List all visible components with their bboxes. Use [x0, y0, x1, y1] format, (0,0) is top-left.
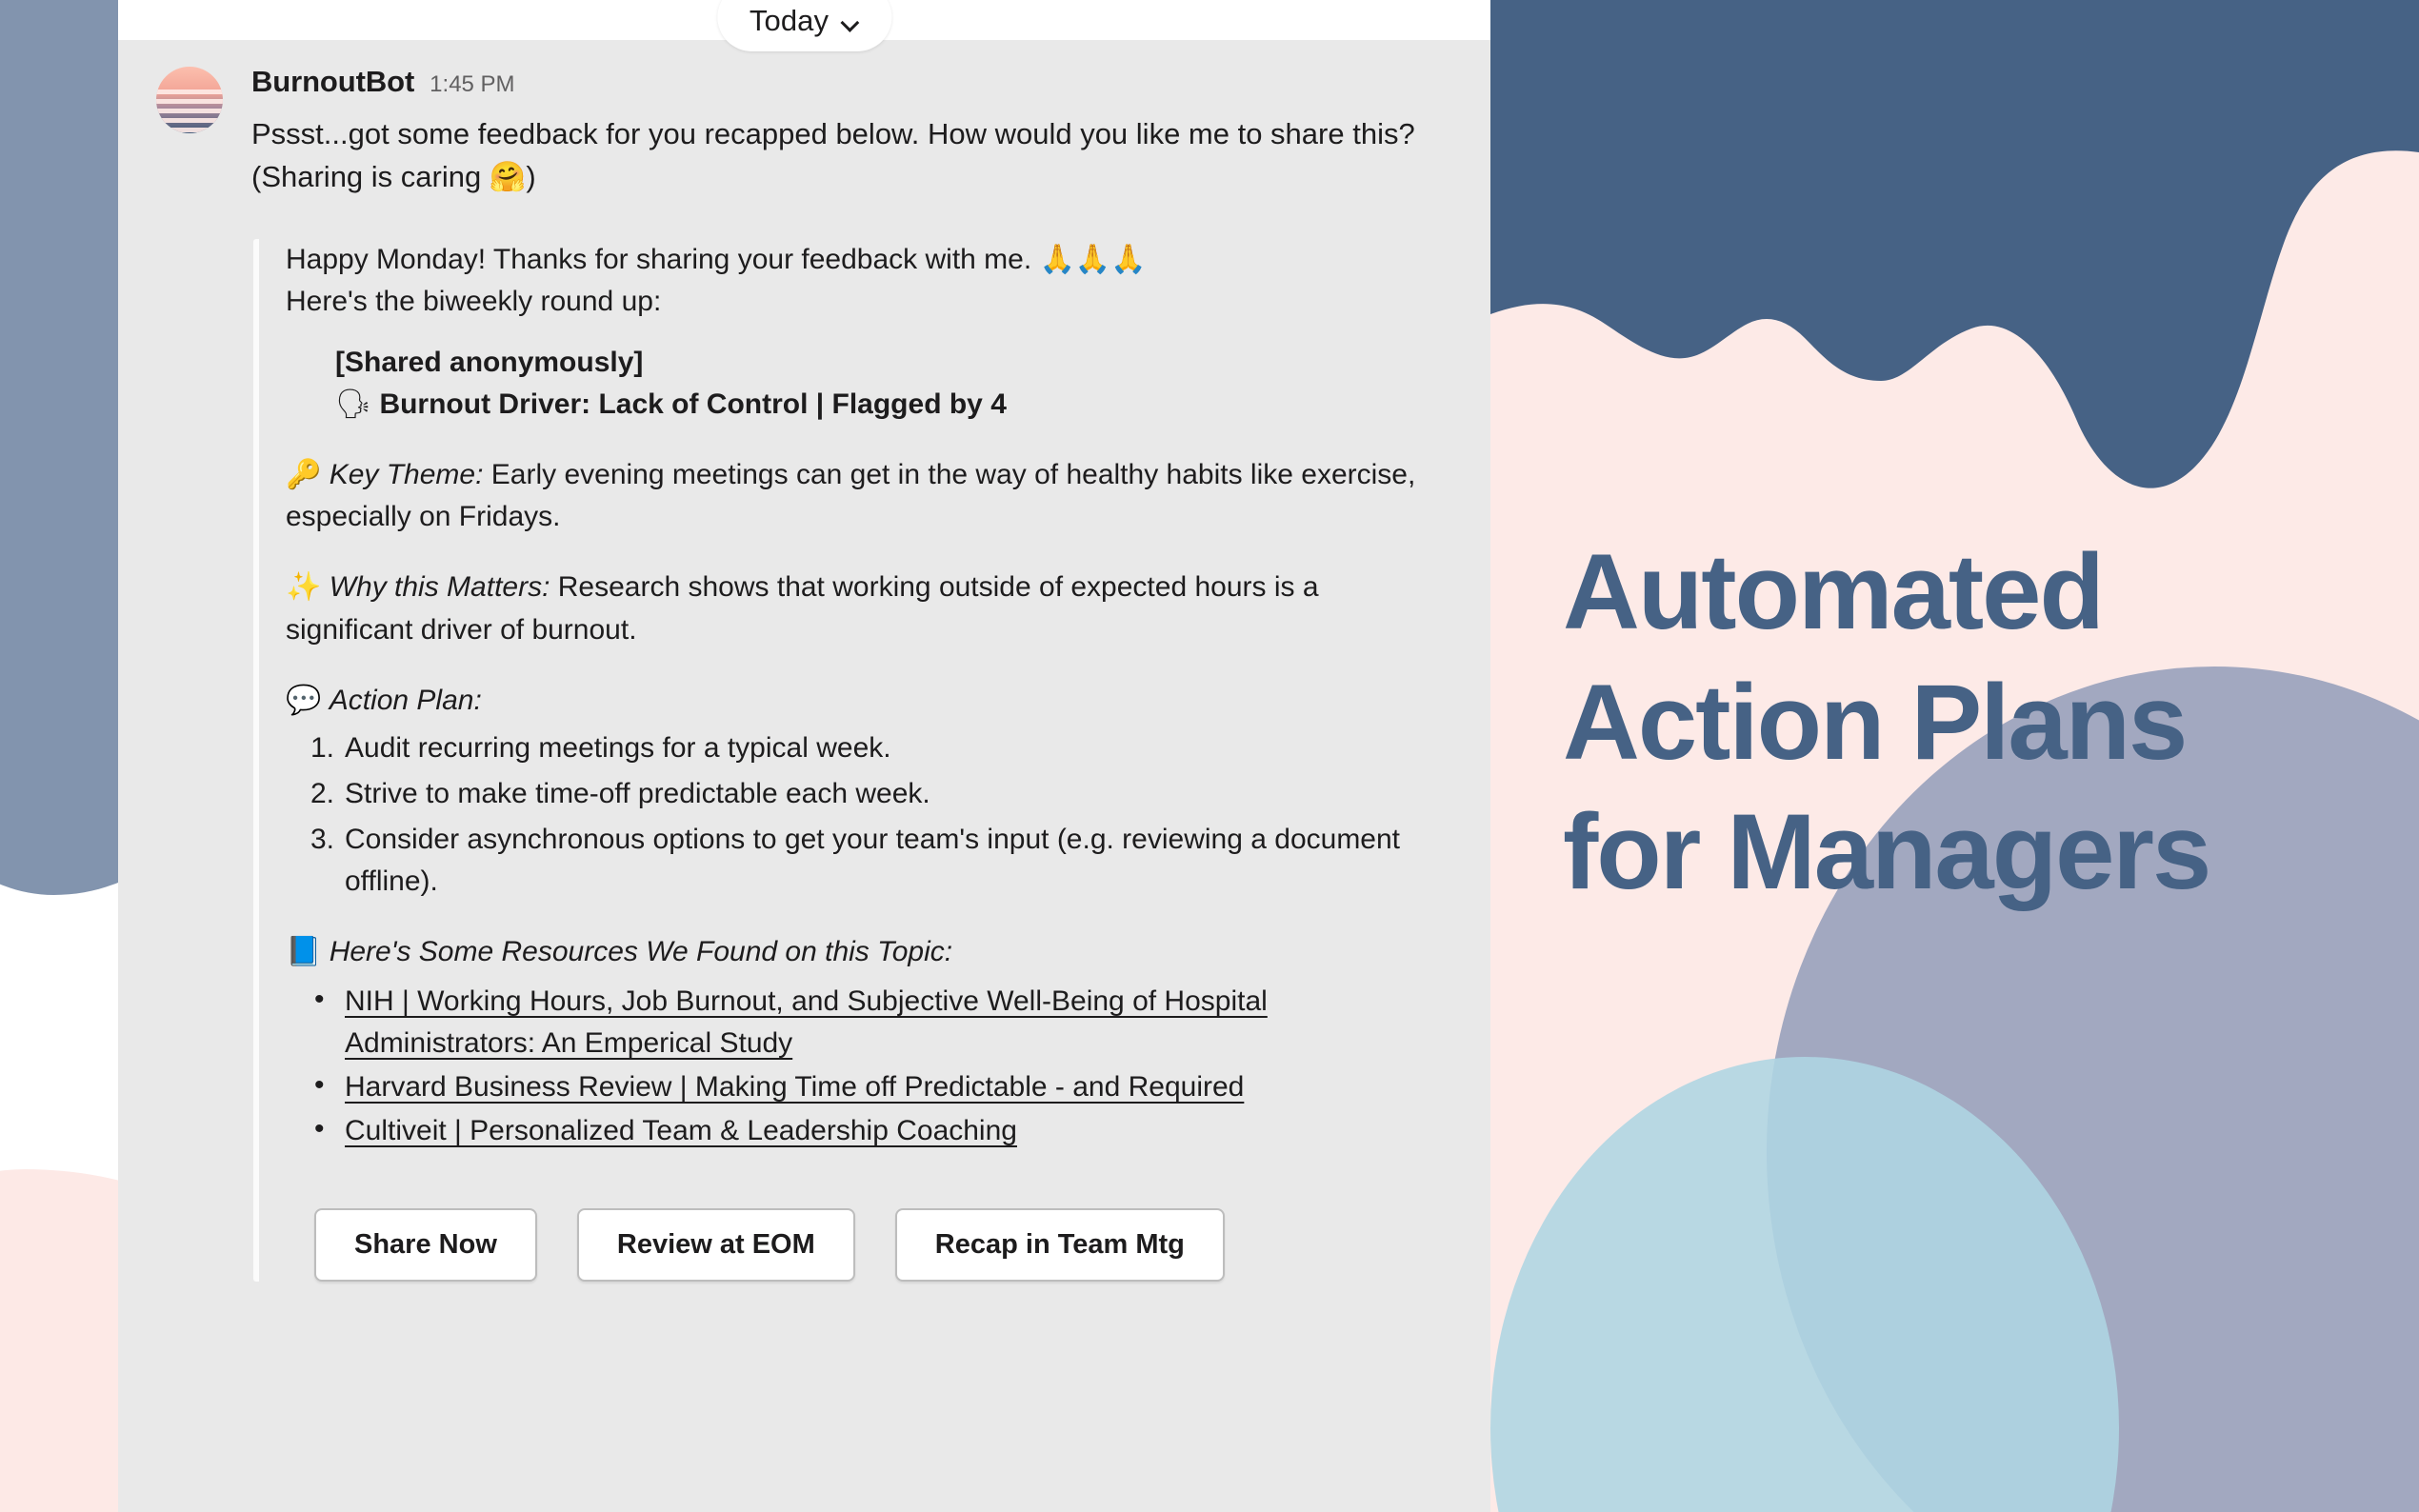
- share-now-button[interactable]: Share Now: [314, 1208, 537, 1282]
- resource-link-nih[interactable]: NIH | Working Hours, Job Burnout, and Su…: [345, 985, 1268, 1059]
- message-intro-text: Pssst...got some feedback for you recapp…: [251, 113, 1451, 199]
- message-timestamp: 1:45 PM: [430, 73, 514, 96]
- quoted-recap-block: Happy Monday! Thanks for sharing your fe…: [253, 239, 1452, 1282]
- message-container: BurnoutBot 1:45 PM Pssst...got some feed…: [118, 40, 1490, 1282]
- chevron-down-icon: [842, 16, 859, 27]
- speaking-head-icon: 🗣: [335, 388, 371, 421]
- resources-heading: 📘 Here's Some Resources We Found on this…: [286, 931, 1452, 973]
- recap-in-team-mtg-button[interactable]: Recap in Team Mtg: [895, 1208, 1225, 1282]
- list-item: 1. Audit recurring meetings for a typica…: [286, 727, 1452, 769]
- quote-subtitle: Here's the biweekly round up:: [286, 281, 1452, 323]
- avatar[interactable]: [156, 67, 223, 133]
- why-this-matters-label: Why this Matters:: [330, 571, 550, 603]
- burnout-driver-text: Burnout Driver: Lack of Control | Flagge…: [379, 388, 1006, 420]
- message-username[interactable]: BurnoutBot: [251, 67, 414, 96]
- hero-title-line-2: Action Plans: [1563, 658, 2419, 788]
- hero-title-line-3: for Managers: [1563, 787, 2419, 918]
- key-theme-line: 🔑 Key Theme: Early evening meetings can …: [286, 454, 1452, 538]
- list-item: Harvard Business Review | Making Time of…: [286, 1066, 1452, 1108]
- burnout-driver-line: 🗣 Burnout Driver: Lack of Control | Flag…: [335, 384, 1452, 426]
- left-pink-blob: [0, 1169, 118, 1512]
- resource-link-hbr[interactable]: Harvard Business Review | Making Time of…: [345, 1071, 1244, 1103]
- list-item-text: Consider asynchronous options to get you…: [345, 824, 1400, 897]
- hero-title: Automated Action Plans for Managers: [1490, 0, 2419, 1512]
- action-plan-list: 1. Audit recurring meetings for a typica…: [286, 727, 1452, 903]
- list-item-number: 2.: [310, 773, 334, 815]
- resources-list: NIH | Working Hours, Job Burnout, and Su…: [286, 981, 1452, 1152]
- resources-label: Here's Some Resources We Found on this T…: [330, 936, 952, 967]
- hero-title-line-1: Automated: [1563, 527, 2419, 658]
- date-divider-today[interactable]: Today: [717, 0, 891, 51]
- action-plan-heading: 💬 Action Plan:: [286, 680, 1452, 722]
- list-item-text: Strive to make time-off predictable each…: [345, 778, 930, 809]
- screenshot-root: Today BurnoutBot 1:45 PM Pssst...got som…: [0, 0, 2419, 1512]
- list-item: 3. Consider asynchronous options to get …: [286, 819, 1452, 903]
- anon-tag: [Shared anonymously]: [335, 342, 1452, 384]
- message-header: BurnoutBot 1:45 PM: [251, 61, 1452, 96]
- date-divider-label: Today: [750, 4, 829, 38]
- right-hero-panel: Automated Action Plans for Managers: [1490, 0, 2419, 1512]
- list-item: 2. Strive to make time-off predictable e…: [286, 773, 1452, 815]
- slack-panel: Today BurnoutBot 1:45 PM Pssst...got som…: [118, 0, 1490, 1512]
- list-item-number: 3.: [310, 819, 334, 861]
- book-icon: 📘: [286, 935, 321, 968]
- action-plan-label: Action Plan:: [330, 685, 482, 716]
- why-this-matters-line: ✨ Why this Matters: Research shows that …: [286, 567, 1452, 650]
- resource-link-cultiveit[interactable]: Cultiveit | Personalized Team & Leadersh…: [345, 1115, 1017, 1146]
- key-icon: 🔑: [286, 458, 321, 491]
- left-blue-blob: [0, 0, 118, 895]
- left-decoration-strip: [0, 0, 118, 1512]
- list-item-text: Audit recurring meetings for a typical w…: [345, 732, 891, 764]
- list-item-number: 1.: [310, 727, 334, 769]
- list-item: NIH | Working Hours, Job Burnout, and Su…: [286, 981, 1452, 1064]
- avatar-stripes: [156, 90, 223, 129]
- quote-greeting: Happy Monday! Thanks for sharing your fe…: [286, 239, 1452, 281]
- list-item: Cultiveit | Personalized Team & Leadersh…: [286, 1110, 1452, 1152]
- key-theme-label: Key Theme:: [330, 459, 484, 490]
- speech-balloon-icon: 💬: [286, 684, 321, 717]
- review-at-eom-button[interactable]: Review at EOM: [577, 1208, 855, 1282]
- action-button-row: Share Now Review at EOM Recap in Team Mt…: [314, 1208, 1452, 1282]
- sparkles-icon: ✨: [286, 570, 321, 604]
- message-body: BurnoutBot 1:45 PM Pssst...got some feed…: [251, 61, 1452, 1282]
